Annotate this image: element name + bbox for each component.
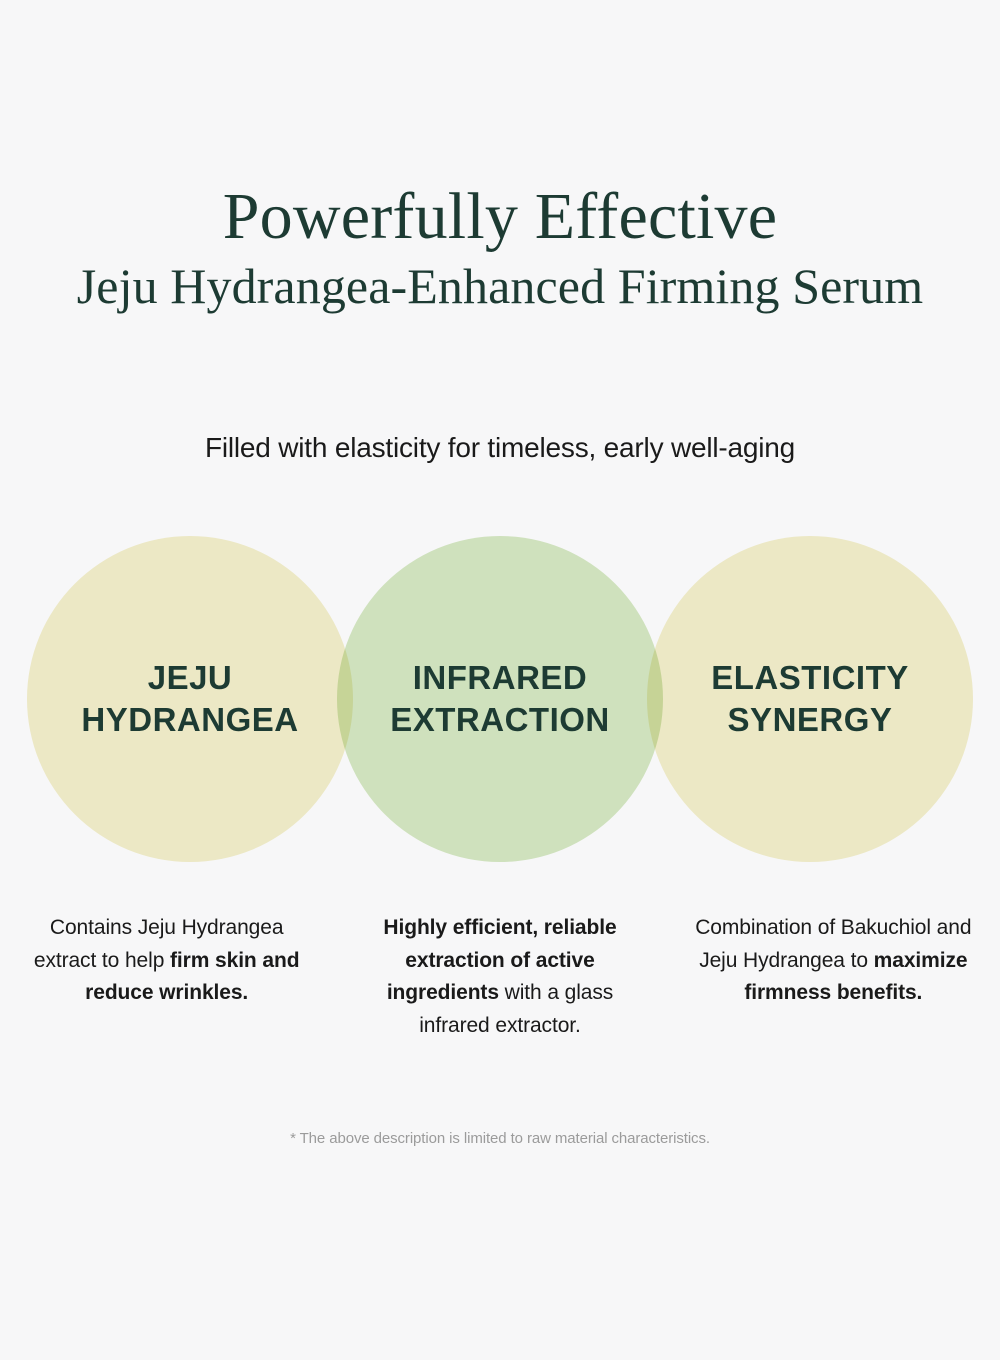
venn-label-text: INFRAREDEXTRACTION [390,657,610,741]
venn-label-elasticity-synergy: ELASTICITYSYNERGY [647,536,973,862]
page-title-primary: Powerfully Effective [0,183,1000,252]
description-infrared-extraction: Highly efficient, reliable extraction of… [333,912,666,1042]
venn-label-line1: ELASTICITY [711,659,909,696]
page-title-secondary: Jeju Hydrangea-Enhanced Firming Serum [0,258,1000,314]
venn-label-line1: JEJU [148,659,233,696]
venn-label-infrared-extraction: INFRAREDEXTRACTION [337,536,663,862]
venn-label-line2: SYNERGY [728,701,893,738]
venn-diagram: JEJUHYDRANGEA INFRAREDEXTRACTION ELASTIC… [0,536,1000,866]
promo-page: Powerfully Effective Jeju Hydrangea-Enha… [0,0,1000,1360]
venn-label-line2: EXTRACTION [390,701,610,738]
description-jeju-hydrangea: Contains Jeju Hydrangea extract to help … [0,912,333,1042]
venn-label-text: ELASTICITYSYNERGY [711,657,909,741]
venn-label-jeju-hydrangea: JEJUHYDRANGEA [27,536,353,862]
footnote-disclaimer: * The above description is limited to ra… [0,1130,1000,1147]
description-row: Contains Jeju Hydrangea extract to help … [0,912,1000,1042]
tagline: Filled with elasticity for timeless, ear… [0,430,1000,466]
venn-label-line2: HYDRANGEA [81,701,298,738]
venn-label-text: JEJUHYDRANGEA [81,657,298,741]
page-heading: Powerfully Effective Jeju Hydrangea-Enha… [0,183,1000,314]
description-elasticity-synergy: Combination of Bakuchiol and Jeju Hydran… [667,912,1000,1042]
venn-label-line1: INFRARED [413,659,588,696]
